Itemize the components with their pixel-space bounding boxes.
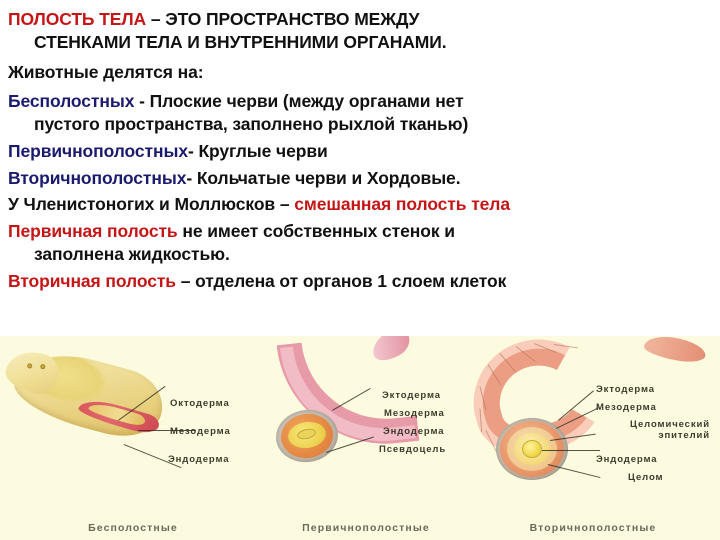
- figure-panel-acoelomate: Октодерма Мезодерма Эндодерма Бесполостн…: [0, 336, 266, 540]
- label-endoderm: Эндодерма: [383, 426, 444, 437]
- term-coelomate: Вторичнополостных: [8, 168, 186, 188]
- title-term: ПОЛОСТЬ ТЕЛА: [8, 9, 146, 29]
- list-item-primary-cavity: Первичная полость не имеет собственных с…: [8, 220, 714, 243]
- term-secondary-cavity-desc: – отделена от органов 1 слоем клеток: [176, 271, 506, 291]
- label-coelomic-epithelium: Целомическийэпителий: [586, 420, 710, 441]
- figure-strip: Октодерма Мезодерма Эндодерма Бесполостн…: [0, 336, 720, 540]
- label-ectoderm: Эктодерма: [596, 384, 655, 395]
- label-ectoderm: Эктодерма: [382, 390, 441, 401]
- term-mixed-cavity: смешанная полость тела: [294, 194, 510, 214]
- term-secondary-cavity: Вторичная полость: [8, 271, 176, 291]
- list-item-acoelomate: Бесполостных - Плоские черви (между орга…: [8, 90, 714, 113]
- label-endoderm: Эндодерма: [596, 454, 657, 465]
- list-item-pseudocoelomate: Первичнополостных- Круглые черви: [8, 140, 714, 163]
- label-mesoderm: Мезодерма: [384, 408, 445, 419]
- figure-caption-acoelomate: Бесполостные: [0, 522, 266, 534]
- list-item-mixed-cavity: У Членистоногих и Моллюсков – смешанная …: [8, 193, 714, 216]
- term-primary-cavity-desc: не имеет собственных стенок и: [178, 221, 455, 241]
- label-endoderm: Эндодерма: [168, 454, 229, 465]
- title-rest: – ЭТО ПРОСТРАНСТВО МЕЖДУ: [146, 9, 419, 29]
- slide-title-line-2: СТЕНКАМИ ТЕЛА И ВНУТРЕННИМИ ОРГАНАМИ.: [8, 31, 714, 54]
- list-item-coelomate: Вторичнополостных- Кольчатые черви и Хор…: [8, 167, 714, 190]
- label-pseudocoel: Псевдоцель: [379, 444, 446, 455]
- term-pseudocoelomate-desc: - Круглые черви: [188, 141, 328, 161]
- leader-line-endoderm: [542, 450, 600, 451]
- label-coelomic-epithelium-line2: эпителий: [658, 430, 710, 441]
- label-coelomic-epithelium-line1: Целомический: [630, 419, 710, 430]
- slide-title-line: ПОЛОСТЬ ТЕЛА – ЭТО ПРОСТРАНСТВО МЕЖДУ: [8, 8, 714, 31]
- slide-text-block: ПОЛОСТЬ ТЕЛА – ЭТО ПРОСТРАНСТВО МЕЖДУ СТ…: [0, 0, 720, 336]
- figure-caption-pseudocoelomate: Первичнополостные: [266, 522, 466, 534]
- term-coelomate-desc: - Кольчатые черви и Хордовые.: [186, 168, 460, 188]
- label-coelom: Целом: [628, 472, 663, 483]
- list-item-acoelomate-cont: пустого пространства, заполнено рыхлой т…: [8, 113, 714, 136]
- mixed-cavity-prefix: У Членистоногих и Моллюсков –: [8, 194, 294, 214]
- figure-panel-coelomate: Эктодерма Мезодерма Целомическийэпителий…: [466, 336, 720, 540]
- list-item-primary-cavity-cont: заполнена жидкостью.: [8, 243, 714, 266]
- figure-caption-coelomate: Вторичнополостные: [466, 522, 720, 534]
- earthworm-tail-illustration: [643, 336, 708, 365]
- term-primary-cavity: Первичная полость: [8, 221, 178, 241]
- earthworm-section-gut-core: [522, 440, 542, 458]
- term-acoelomate: Бесполостных: [8, 91, 134, 111]
- label-mesoderm: Мезодерма: [596, 402, 657, 413]
- intro-line: Животные делятся на:: [8, 61, 714, 84]
- term-pseudocoelomate: Первичнополостных: [8, 141, 188, 161]
- list-item-secondary-cavity: Вторичная полость – отделена от органов …: [8, 270, 714, 293]
- label-mesoderm: Мезодерма: [170, 426, 231, 437]
- term-acoelomate-desc: - Плоские черви (между органами нет: [134, 91, 463, 111]
- flatworm-eye-left-icon: [27, 363, 33, 369]
- label-ectoderm: Октодерма: [170, 398, 230, 409]
- flatworm-eye-right-icon: [40, 364, 46, 370]
- figure-panel-pseudocoelomate: Эктодерма Мезодерма Эндодерма Псевдоцель…: [266, 336, 466, 540]
